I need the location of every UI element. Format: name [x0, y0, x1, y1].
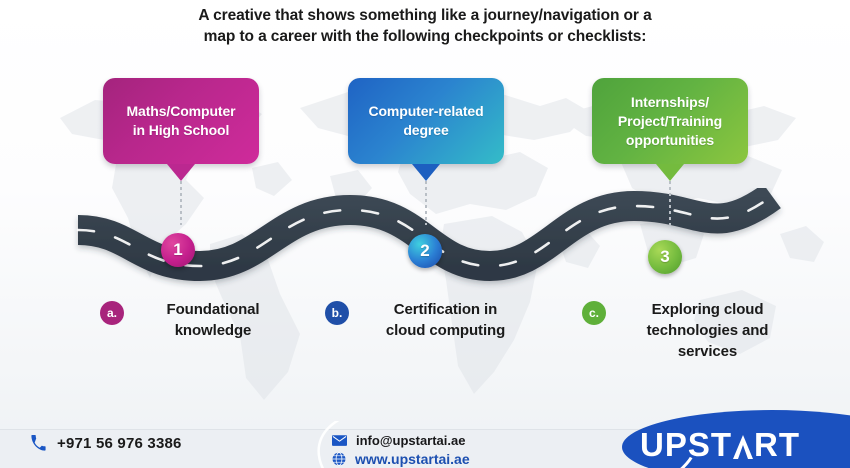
- phone-icon: [30, 435, 47, 452]
- step-b-line-1: Certification in: [358, 299, 533, 320]
- page-title: A creative that shows something like a j…: [0, 5, 850, 47]
- callout-text-1: Maths/Computer in High School: [126, 102, 235, 140]
- title-line-1: A creative that shows something like a j…: [0, 5, 850, 26]
- callout-1-line-1: Maths/Computer: [126, 102, 235, 121]
- step-a-line-1: Foundational: [133, 299, 293, 320]
- step-c-line-1: Exploring cloud: [615, 299, 800, 320]
- email-address: info@upstartai.ae: [356, 433, 465, 448]
- logo-a-glyph: [732, 434, 754, 460]
- callout-3-line-1: Internships/: [618, 93, 722, 112]
- footer-contact: info@upstartai.ae www.upstartai.ae: [332, 431, 470, 468]
- step-badge-b: b.: [325, 301, 349, 325]
- website-url: www.upstartai.ae: [355, 451, 470, 467]
- logo-text-after-a: RT: [754, 426, 800, 463]
- logo-wordmark: UPSTRT: [640, 426, 850, 464]
- footer-email-row[interactable]: info@upstartai.ae: [332, 431, 470, 449]
- step-b-line-2: cloud computing: [358, 320, 533, 341]
- title-line-2: map to a career with the following check…: [0, 26, 850, 47]
- step-c-line-3: services: [615, 341, 800, 362]
- step-label-a: a. Foundational knowledge: [100, 299, 300, 341]
- logo-text-before-a: UPST: [640, 426, 732, 463]
- road-marker-3[interactable]: 3: [648, 240, 682, 274]
- callout-bubble-2: Computer-related degree: [348, 78, 504, 164]
- checkpoint-callout-1[interactable]: Maths/Computer in High School: [103, 78, 259, 225]
- callout-text-2: Computer-related degree: [368, 102, 483, 140]
- callout-tail-2: [412, 164, 440, 181]
- checkpoint-callout-2[interactable]: Computer-related degree: [348, 78, 504, 225]
- callout-tail-1: [167, 164, 195, 181]
- step-label-b: b. Certification in cloud computing: [325, 299, 540, 341]
- phone-number: +971 56 976 3386: [57, 435, 182, 452]
- road-marker-2[interactable]: 2: [408, 234, 442, 268]
- step-badge-c: c.: [582, 301, 606, 325]
- step-a-line-2: knowledge: [133, 320, 293, 341]
- footer-phone[interactable]: +971 56 976 3386: [30, 435, 182, 452]
- step-badge-a: a.: [100, 301, 124, 325]
- callout-tail-3: [656, 164, 684, 181]
- callout-text-3: Internships/ Project/Training opportunit…: [618, 93, 722, 150]
- globe-icon: [332, 452, 346, 466]
- step-text-b: Certification in cloud computing: [358, 299, 533, 341]
- callout-1-line-2: in High School: [126, 121, 235, 140]
- callout-bubble-1: Maths/Computer in High School: [103, 78, 259, 164]
- envelope-icon: [332, 435, 347, 446]
- checkpoint-callout-3[interactable]: Internships/ Project/Training opportunit…: [592, 78, 748, 229]
- step-label-c: c. Exploring cloud technologies and serv…: [582, 299, 807, 362]
- road-marker-1[interactable]: 1: [161, 233, 195, 267]
- infographic-canvas: A creative that shows something like a j…: [0, 0, 850, 468]
- step-text-a: Foundational knowledge: [133, 299, 293, 341]
- callout-2-line-1: Computer-related: [368, 102, 483, 121]
- callout-3-line-3: opportunities: [618, 131, 722, 150]
- callout-3-line-2: Project/Training: [618, 112, 722, 131]
- callout-2-line-2: degree: [368, 121, 483, 140]
- upstart-logo[interactable]: UPSTRT: [600, 404, 850, 468]
- footer-website-row[interactable]: www.upstartai.ae: [332, 450, 470, 468]
- step-c-line-2: technologies and: [615, 320, 800, 341]
- callout-bubble-3: Internships/ Project/Training opportunit…: [592, 78, 748, 164]
- callout-connector-3: [669, 181, 671, 229]
- step-text-c: Exploring cloud technologies and service…: [615, 299, 800, 362]
- callout-connector-2: [425, 181, 427, 225]
- callout-connector-1: [180, 181, 182, 225]
